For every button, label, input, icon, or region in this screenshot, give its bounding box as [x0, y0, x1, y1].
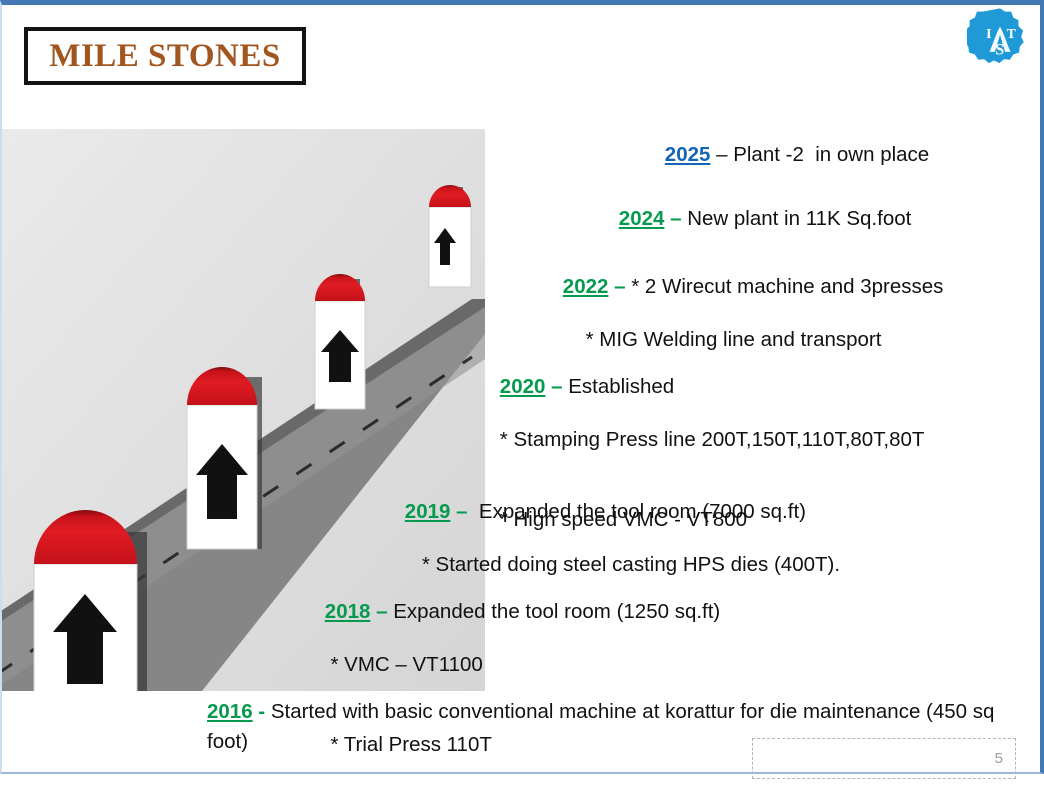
page-title: MILE STONES: [49, 38, 280, 75]
timeline-dash-2020: –: [545, 375, 568, 398]
timeline-dash-2019: –: [450, 500, 479, 523]
timeline-sub-2018-1: * VMC – VT1100: [302, 652, 720, 679]
timeline-dash-2016: -: [253, 700, 271, 723]
milestone-marker-2: [187, 367, 262, 549]
milestone-marker-3: [315, 274, 365, 409]
slide-number-placeholder[interactable]: 5: [752, 738, 1016, 779]
timeline-text-2025: Plant -2 in own place: [733, 143, 929, 166]
timeline-year-2016: 2016: [207, 700, 253, 723]
timeline-year-2025: 2025: [665, 143, 711, 166]
slide-title-box: MILE STONES: [24, 27, 306, 85]
slide-canvas: MILE STONES I T S: [0, 0, 1044, 774]
timeline-year-2020: 2020: [500, 375, 546, 398]
timeline-dash-2018: –: [370, 600, 393, 623]
timeline-dash-2022: –: [608, 275, 631, 298]
timeline-year-2018: 2018: [325, 600, 371, 623]
milestone-marker-4: [429, 185, 471, 287]
timeline-text-2024: New plant in 11K Sq.foot: [687, 207, 911, 230]
timeline-dash-2025: –: [710, 143, 733, 166]
milestone-marker-1: 2016: [34, 510, 147, 691]
timeline-year-2024: 2024: [619, 207, 665, 230]
timeline-text-2020: Established: [568, 375, 674, 398]
logo-letter-s: S: [995, 42, 1004, 59]
timeline-year-2019: 2019: [405, 500, 451, 523]
timeline-dash-2024: –: [664, 207, 687, 230]
timeline-sub-2020-1: * Stamping Press line 200T,150T,110T,80T…: [477, 427, 924, 454]
its-gear-logo: I T S: [967, 6, 1033, 74]
logo-letter-t: T: [1007, 26, 1017, 41]
timeline-text-2019: Expanded the tool room (7000 sq.ft): [479, 500, 806, 523]
timeline-text-2022: * 2 Wirecut machine and 3presses: [631, 275, 943, 298]
timeline-entry-2018: 2018 – Expanded the tool room (1250 sq.f…: [302, 572, 720, 812]
slide-number: 5: [995, 750, 1015, 767]
timeline-text-2018: Expanded the tool room (1250 sq.ft): [393, 600, 720, 623]
logo-letter-i: I: [986, 26, 991, 41]
timeline-year-2022: 2022: [563, 275, 609, 298]
